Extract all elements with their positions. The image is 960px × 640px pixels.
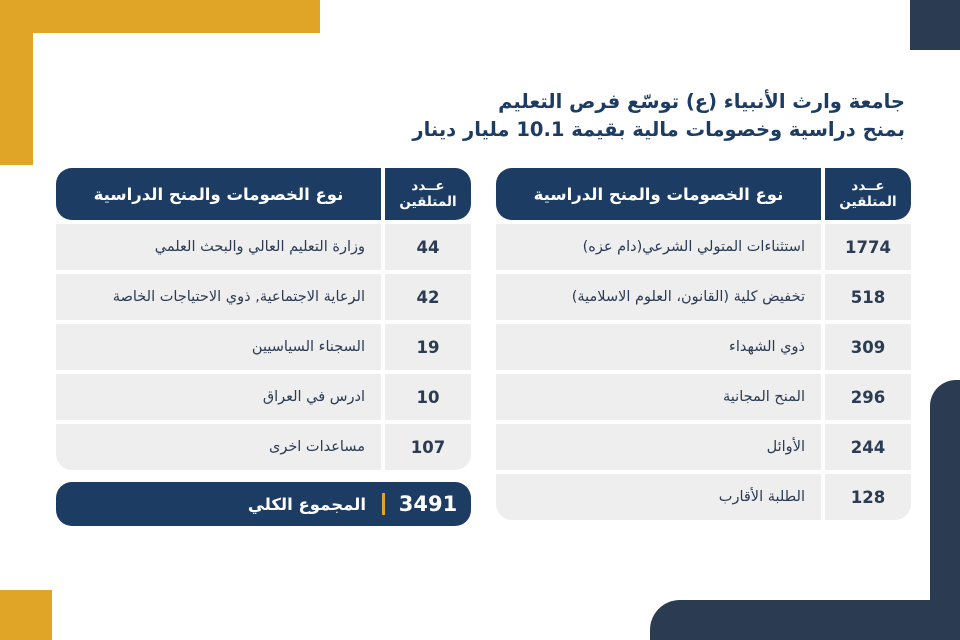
table-row: 518 تخفيض كلية (القانون، العلوم الاسلامي… [496, 274, 911, 320]
table-left-row-1-count: 42 [385, 274, 471, 320]
table-right-row-1-type: تخفيض كلية (القانون، العلوم الاسلامية) [496, 274, 821, 320]
gold-corner-bracket-inner-cut [33, 33, 320, 165]
grand-total-label: المجموع الكلي [56, 495, 382, 514]
table-left-header-count-line-1: عــدد [411, 178, 444, 194]
navy-bar-bottom-right [650, 600, 960, 640]
table-right-row-0-type: استثناءات المتولي الشرعي(دام عزه) [496, 224, 821, 270]
table-left-row-2-count: 19 [385, 324, 471, 370]
table-right-header-type: نوع الخصومات والمنح الدراسية [496, 168, 821, 220]
table-row: 128 الطلبة الأقارب [496, 474, 911, 520]
table-row: 44 وزارة التعليم العالي والبحث العلمي [56, 224, 471, 270]
table-right-row-3-type: المنح المجانية [496, 374, 821, 420]
table-left-row-0-count: 44 [385, 224, 471, 270]
table-row: 10 ادرس في العراق [56, 374, 471, 420]
grand-total-bar: 3491 المجموع الكلي [56, 482, 471, 526]
page-title-line-2: بمنح دراسية وخصومات مالية بقيمة 10.1 ملي… [345, 116, 905, 144]
scholarships-table-left: عــدد المتلقين نوع الخصومات والمنح الدرا… [56, 168, 471, 474]
table-right-header-count-line-2: المتلقين [839, 194, 896, 210]
table-row: 107 مساعدات اخرى [56, 424, 471, 470]
table-right-header-row: عــدد المتلقين نوع الخصومات والمنح الدرا… [496, 168, 911, 220]
table-row: 296 المنح المجانية [496, 374, 911, 420]
table-right-row-2-count: 309 [825, 324, 911, 370]
table-right-row-4-count: 244 [825, 424, 911, 470]
table-row: 309 ذوي الشهداء [496, 324, 911, 370]
table-left-header-count: عــدد المتلقين [385, 168, 471, 220]
table-right-row-0-count: 1774 [825, 224, 911, 270]
grand-total-value: 3491 [385, 492, 471, 516]
table-left-header-type: نوع الخصومات والمنح الدراسية [56, 168, 381, 220]
table-left-row-2-type: السجناء السياسيين [56, 324, 381, 370]
table-left-row-3-count: 10 [385, 374, 471, 420]
table-left-row-4-count: 107 [385, 424, 471, 470]
gold-block-bottom-left [0, 590, 52, 640]
table-right-row-4-type: الأوائل [496, 424, 821, 470]
scholarships-table-right: عــدد المتلقين نوع الخصومات والمنح الدرا… [496, 168, 911, 524]
table-left-row-0-type: وزارة التعليم العالي والبحث العلمي [56, 224, 381, 270]
table-right-row-3-count: 296 [825, 374, 911, 420]
table-right-row-5-type: الطلبة الأقارب [496, 474, 821, 520]
table-left-header-row: عــدد المتلقين نوع الخصومات والمنح الدرا… [56, 168, 471, 220]
table-left-row-3-type: ادرس في العراق [56, 374, 381, 420]
table-right-header-count-line-1: عــدد [851, 178, 884, 194]
page-title: جامعة وارث الأنبياء (ع) توسّع فرص التعلي… [345, 88, 905, 145]
table-row: 42 الرعاية الاجتماعية, ذوي الاحتياجات ال… [56, 274, 471, 320]
table-right-row-1-count: 518 [825, 274, 911, 320]
navy-block-top-right [910, 0, 960, 50]
page-title-line-1: جامعة وارث الأنبياء (ع) توسّع فرص التعلي… [345, 88, 905, 116]
table-row: 19 السجناء السياسيين [56, 324, 471, 370]
table-right-header-count: عــدد المتلقين [825, 168, 911, 220]
table-left-header-count-line-2: المتلقين [399, 194, 456, 210]
table-left-row-1-type: الرعاية الاجتماعية, ذوي الاحتياجات الخاص… [56, 274, 381, 320]
table-row: 1774 استثناءات المتولي الشرعي(دام عزه) [496, 224, 911, 270]
table-right-row-2-type: ذوي الشهداء [496, 324, 821, 370]
table-right-row-5-count: 128 [825, 474, 911, 520]
table-left-row-4-type: مساعدات اخرى [56, 424, 381, 470]
table-row: 244 الأوائل [496, 424, 911, 470]
grand-total-divider [382, 493, 385, 515]
